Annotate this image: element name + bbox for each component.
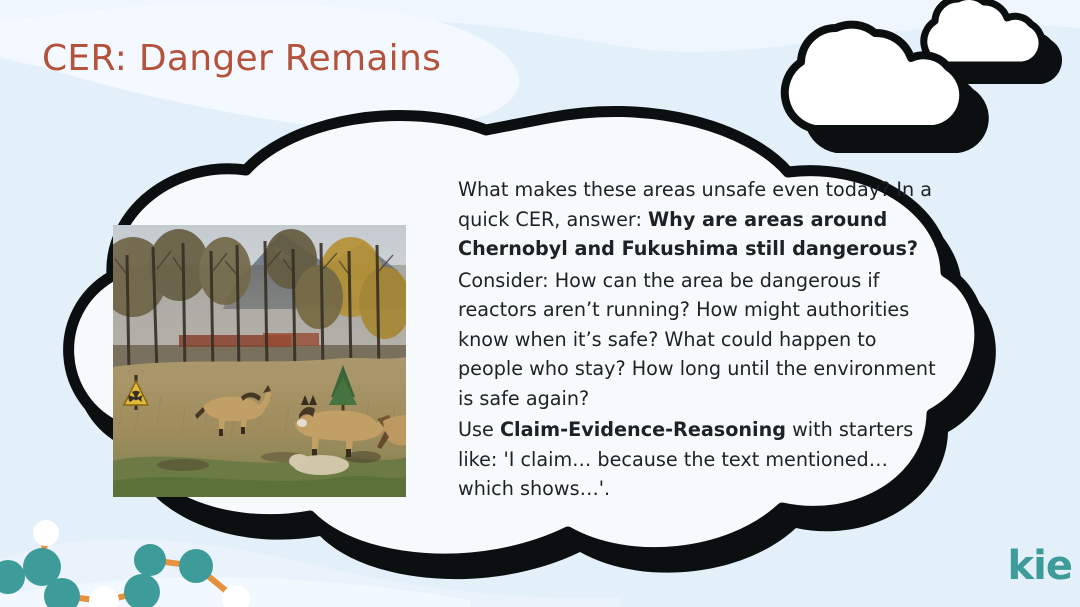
cer-lead: Use xyxy=(458,418,500,441)
consider-text: Consider: How can the area be dangerous … xyxy=(458,269,936,410)
cer-term: Claim-Evidence-Reasoning xyxy=(500,418,786,441)
paragraph-cer-starters: Use Claim-Evidence-Reasoning with starte… xyxy=(458,415,936,504)
bubble-text-content: What makes these areas unsafe even today… xyxy=(458,175,936,506)
brand-logo: kie xyxy=(1008,543,1072,589)
slide-canvas: CER: Danger Remains kie xyxy=(0,0,1080,607)
paragraph-prompt: What makes these areas unsafe even today… xyxy=(458,175,936,264)
photo-illustration xyxy=(113,225,406,497)
paragraph-consider: Consider: How can the area be dangerous … xyxy=(458,266,936,414)
page-title: CER: Danger Remains xyxy=(42,38,441,79)
chernobyl-wildlife-photo xyxy=(113,225,406,497)
